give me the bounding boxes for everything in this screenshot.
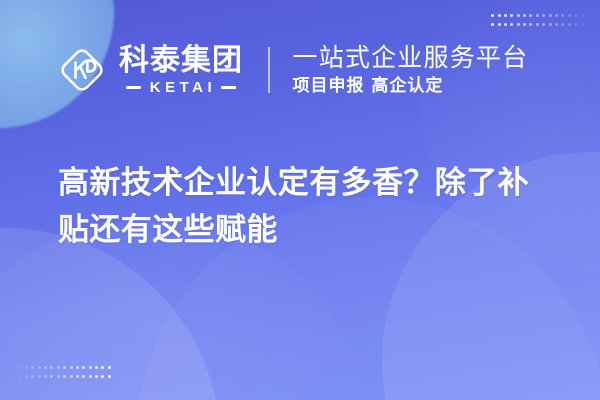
- brand-name-en-row: KETAI: [126, 80, 236, 95]
- vertical-divider: [268, 47, 270, 93]
- dot-row: [12, 366, 111, 369]
- dot: [95, 366, 98, 369]
- tagline-main: 一站式企业服务平台: [293, 43, 529, 73]
- brand-name-en: KETAI: [146, 80, 216, 95]
- dot: [12, 366, 15, 369]
- dot: [38, 375, 41, 378]
- dot: [108, 375, 111, 378]
- dot: [25, 366, 28, 369]
- dot: [18, 366, 21, 369]
- dot: [108, 366, 111, 369]
- dot: [38, 366, 41, 369]
- promo-banner: 科泰集团 KETAI 一站式企业服务平台 项目申报 高企认定 高新技术企业认定有…: [0, 0, 600, 400]
- rule-left: [126, 86, 141, 89]
- dot: [95, 375, 98, 378]
- dot: [76, 375, 79, 378]
- dot: [89, 366, 92, 369]
- dot: [57, 375, 60, 378]
- dot: [82, 366, 85, 369]
- dot: [57, 366, 60, 369]
- dot: [76, 366, 79, 369]
- dot: [31, 375, 34, 378]
- banner-header: 科泰集团 KETAI 一站式企业服务平台 项目申报 高企认定: [0, 0, 600, 140]
- dot: [31, 366, 34, 369]
- dot: [70, 375, 73, 378]
- rule-right: [221, 86, 236, 89]
- dot: [63, 375, 66, 378]
- dot: [44, 366, 47, 369]
- tagline-sub: 项目申报 高企认定: [293, 75, 529, 97]
- brand-logo[interactable]: 科泰集团 KETAI: [58, 45, 243, 95]
- headline-text: 高新技术企业认定有多香？除了补贴还有这些赋能: [58, 160, 550, 254]
- dot: [70, 366, 73, 369]
- ketai-diamond-k-logo-icon: [58, 46, 106, 94]
- dot: [12, 375, 15, 378]
- dot: [89, 375, 92, 378]
- dot: [25, 375, 28, 378]
- dot-row: [12, 375, 111, 378]
- dot: [101, 375, 104, 378]
- dot-grid-bottom-left: [12, 366, 111, 378]
- dot: [50, 366, 53, 369]
- brand-wordmark: 科泰集团 KETAI: [119, 45, 243, 95]
- dot: [101, 366, 104, 369]
- dot: [50, 375, 53, 378]
- dot: [82, 375, 85, 378]
- dot: [18, 375, 21, 378]
- tagline: 一站式企业服务平台 项目申报 高企认定: [293, 43, 529, 98]
- dot: [44, 375, 47, 378]
- dot: [63, 366, 66, 369]
- brand-name-cn: 科泰集团: [119, 45, 243, 77]
